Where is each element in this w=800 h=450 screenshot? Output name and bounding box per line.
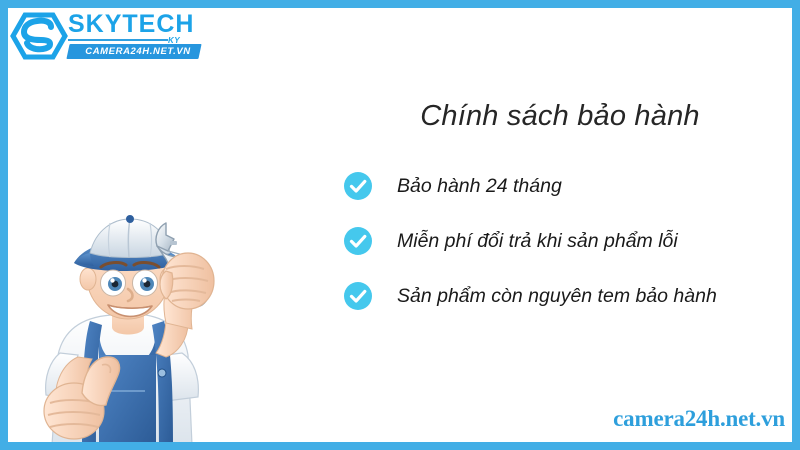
list-item-label: Sản phẩm còn nguyên tem bảo hành bbox=[397, 282, 717, 310]
list-item-label: Miễn phí đổi trả khi sản phẩm lỗi bbox=[397, 227, 678, 255]
list-item: Miễn phí đổi trả khi sản phẩm lỗi bbox=[344, 223, 784, 278]
page-title: Chính sách bảo hành bbox=[340, 100, 780, 133]
promo-banner: SKYTECH KY CAMERA24H.NET.VN Chính sách b… bbox=[0, 0, 800, 450]
list-item: Sản phẩm còn nguyên tem bảo hành bbox=[344, 278, 784, 333]
site-watermark: camera24h.net.vn bbox=[613, 406, 785, 432]
logo-banner-text: CAMERA24H.NET.VN bbox=[72, 45, 204, 59]
warranty-feature-list: Bảo hành 24 tháng Miễn phí đổi trả khi s… bbox=[344, 168, 784, 333]
technician-thumbs-up-wrench-illustration bbox=[16, 205, 231, 445]
check-circle-icon bbox=[344, 282, 372, 310]
brand-logo[interactable]: SKYTECH KY CAMERA24H.NET.VN bbox=[10, 8, 200, 66]
logo-divider-rule bbox=[68, 39, 168, 41]
check-circle-icon bbox=[344, 227, 372, 255]
logo-wordmark: SKYTECH bbox=[68, 12, 194, 37]
check-circle-icon bbox=[344, 172, 372, 200]
list-item: Bảo hành 24 tháng bbox=[344, 168, 784, 223]
list-item-label: Bảo hành 24 tháng bbox=[397, 172, 562, 200]
skytech-hexagon-s-icon bbox=[10, 12, 68, 60]
